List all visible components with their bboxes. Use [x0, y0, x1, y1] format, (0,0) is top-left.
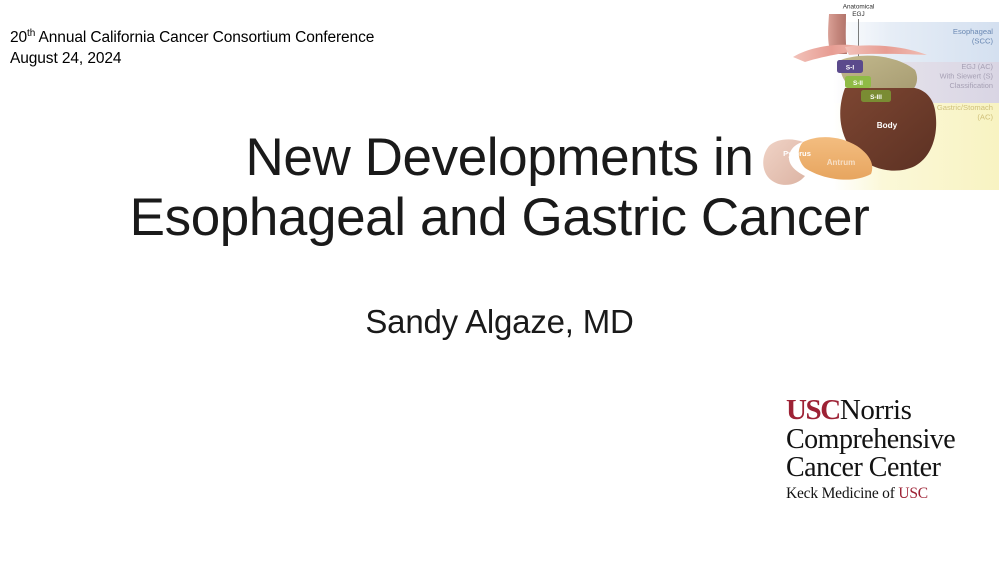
band-label-egj-line3: Classification [949, 81, 993, 90]
slide-title-line-2: Esophageal and Gastric Cancer [0, 188, 999, 248]
logo-line-2: Comprehensive [786, 426, 976, 454]
egj-pointer-label-line1: Anatomical [843, 4, 875, 11]
conference-ordinal-suffix: th [27, 28, 35, 39]
band-label-egj-line2: With Siewert (S) [940, 72, 993, 81]
logo-usc-wordmark: USC [786, 394, 840, 426]
egj-pointer-label-line2: EGJ [852, 11, 864, 18]
band-label-esophageal-line1: Esophageal [953, 27, 993, 36]
conference-ordinal-number: 20 [10, 29, 27, 46]
logo-tagline: Keck Medicine of USC [786, 486, 976, 501]
logo-tagline-usc: USC [898, 485, 928, 502]
siewert-zone-s1-label: S-I [846, 64, 855, 71]
conference-name-line: 20th Annual California Cancer Consortium… [10, 27, 374, 48]
band-label-egj-line1: EGJ (AC) [961, 62, 993, 71]
band-label-esophageal-line2: (SCC) [972, 37, 994, 46]
conference-name-rest: Annual California Cancer Consortium Conf… [35, 29, 374, 46]
stomach-anatomy-diagram: Esophageal (SCC) EGJ (AC) With Siewert (… [757, 0, 999, 190]
slide-header: 20th Annual California Cancer Consortium… [10, 27, 374, 70]
pylorus-region [763, 139, 805, 185]
logo-norris-wordmark: Norris [840, 394, 912, 426]
logo-line-1: USCNorris [786, 396, 976, 425]
anatomy-label-pylorus: Pylorus [783, 149, 811, 158]
logo-line-3: Cancer Center [786, 454, 976, 482]
presenter-name: Sandy Algaze, MD [0, 303, 999, 341]
logo-tagline-prefix: Keck Medicine of [786, 485, 898, 502]
anatomy-label-antrum: Antrum [827, 158, 855, 167]
stomach-anatomy-figure: Esophageal (SCC) EGJ (AC) With Siewert (… [757, 0, 999, 190]
band-label-gastric-line2: (AC) [977, 113, 993, 122]
usc-norris-logo: USCNorris Comprehensive Cancer Center Ke… [786, 396, 976, 501]
presentation-slide: 20th Annual California Cancer Consortium… [0, 0, 999, 562]
band-label-gastric-line1: Gastric/Stomach [937, 103, 993, 112]
siewert-zone-s3-label: S-III [870, 94, 882, 101]
siewert-zone-s2-label: S-II [853, 80, 863, 87]
conference-date: August 24, 2024 [10, 48, 374, 69]
anatomy-label-body: Body [877, 121, 898, 130]
